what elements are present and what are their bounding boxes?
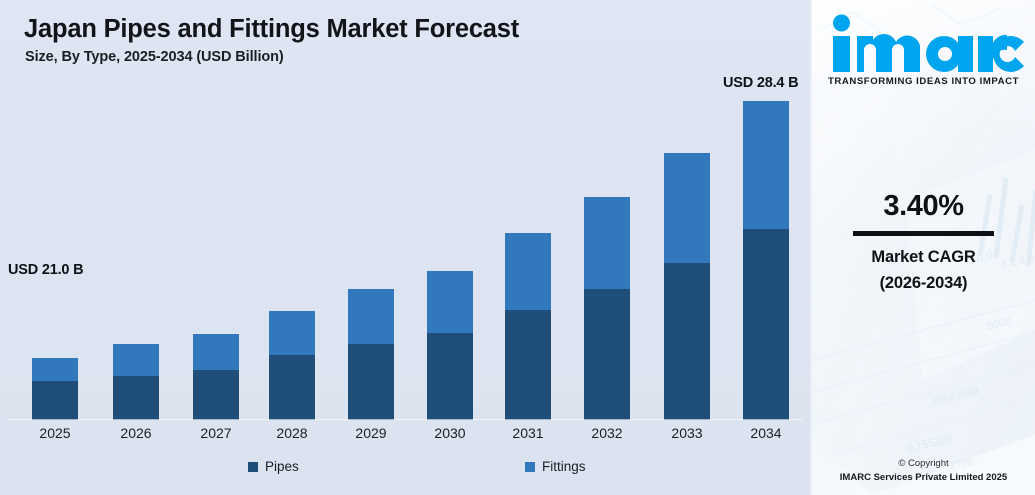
bar-segment-fittings-2031[interactable] [505, 233, 551, 310]
bar-group-2026[interactable] [113, 344, 159, 420]
legend-swatch-fittings-icon [525, 462, 535, 472]
bar-group-2031[interactable] [505, 233, 551, 420]
bar-segment-pipes-2028[interactable] [269, 355, 315, 420]
bar-segment-pipes-2034[interactable] [743, 229, 789, 420]
legend-item-fittings[interactable]: Fittings [525, 459, 586, 474]
legend-label-pipes: Pipes [265, 459, 299, 474]
page-title: Japan Pipes and Fittings Market Forecast [24, 15, 519, 44]
chart-subtitle: Size, By Type, 2025-2034 (USD Billion) [25, 49, 284, 65]
bar-group-2030[interactable] [427, 271, 473, 420]
chart-legend: Pipes Fittings [0, 459, 812, 485]
bar-segment-pipes-2026[interactable] [113, 376, 159, 420]
bar-segment-pipes-2033[interactable] [664, 263, 710, 420]
cagr-block: 3.40% Market CAGR (2026-2034) [812, 190, 1035, 296]
bar-segment-pipes-2029[interactable] [348, 344, 394, 420]
bar-group-2025[interactable] [32, 358, 78, 420]
x-tick-2033: 2033 [671, 425, 702, 441]
copyright-line-2: IMARC Services Private Limited 2025 [812, 471, 1035, 485]
bar-segment-pipes-2031[interactable] [505, 310, 551, 420]
x-tick-2029: 2029 [355, 425, 386, 441]
bar-series-layer [0, 70, 812, 420]
chart-panel: Japan Pipes and Fittings Market Forecast… [0, 0, 812, 495]
x-axis: 2025202620272028202920302031203220332034 [0, 425, 812, 447]
imarc-logo: TRANSFORMING IDEAS INTO IMPACT [812, 12, 1035, 87]
bar-segment-fittings-2025[interactable] [32, 358, 78, 381]
axis-baseline [8, 419, 802, 420]
start-value-annotation: USD 21.0 B [8, 262, 83, 278]
x-tick-2034: 2034 [750, 425, 781, 441]
bar-group-2034[interactable] [743, 101, 789, 420]
legend-swatch-pipes-icon [248, 462, 258, 472]
bar-segment-fittings-2030[interactable] [427, 271, 473, 333]
bar-group-2032[interactable] [584, 197, 630, 420]
bar-group-2027[interactable] [193, 334, 239, 420]
bar-segment-fittings-2033[interactable] [664, 153, 710, 263]
copyright-footer: © Copyright IMARC Services Private Limit… [812, 457, 1035, 485]
imarc-wordmark-icon [824, 12, 1024, 74]
x-tick-2025: 2025 [39, 425, 70, 441]
x-tick-2030: 2030 [434, 425, 465, 441]
bar-segment-fittings-2034[interactable] [743, 101, 789, 229]
cagr-label: Market CAGR [812, 245, 1035, 271]
bar-group-2033[interactable] [664, 153, 710, 420]
infographic-root: Japan Pipes and Fittings Market Forecast… [0, 0, 1035, 495]
bar-segment-fittings-2032[interactable] [584, 197, 630, 289]
x-tick-2031: 2031 [512, 425, 543, 441]
cagr-divider [853, 231, 994, 236]
imarc-tagline: TRANSFORMING IDEAS INTO IMPACT [812, 76, 1035, 87]
bar-segment-pipes-2027[interactable] [193, 370, 239, 420]
bar-segment-pipes-2030[interactable] [427, 333, 473, 420]
end-value-annotation: USD 28.4 B [723, 75, 798, 91]
cagr-value: 3.40% [812, 190, 1035, 223]
bar-segment-fittings-2027[interactable] [193, 334, 239, 370]
plot-area [0, 70, 812, 420]
bar-segment-pipes-2025[interactable] [32, 381, 78, 420]
cagr-period: (2026-2034) [812, 271, 1035, 297]
bar-segment-pipes-2032[interactable] [584, 289, 630, 420]
bar-segment-fittings-2026[interactable] [113, 344, 159, 376]
x-tick-2027: 2027 [200, 425, 231, 441]
copyright-line-1: © Copyright [812, 457, 1035, 471]
x-tick-2026: 2026 [120, 425, 151, 441]
legend-label-fittings: Fittings [542, 459, 586, 474]
legend-item-pipes[interactable]: Pipes [248, 459, 299, 474]
bar-group-2029[interactable] [348, 289, 394, 420]
x-tick-2028: 2028 [276, 425, 307, 441]
bar-segment-fittings-2028[interactable] [269, 311, 315, 355]
brand-panel: 10662048 0.155288 2768 0.0 1 2 3 4 5000 [812, 0, 1035, 495]
x-tick-2032: 2032 [591, 425, 622, 441]
bar-segment-fittings-2029[interactable] [348, 289, 394, 344]
bar-group-2028[interactable] [269, 311, 315, 420]
